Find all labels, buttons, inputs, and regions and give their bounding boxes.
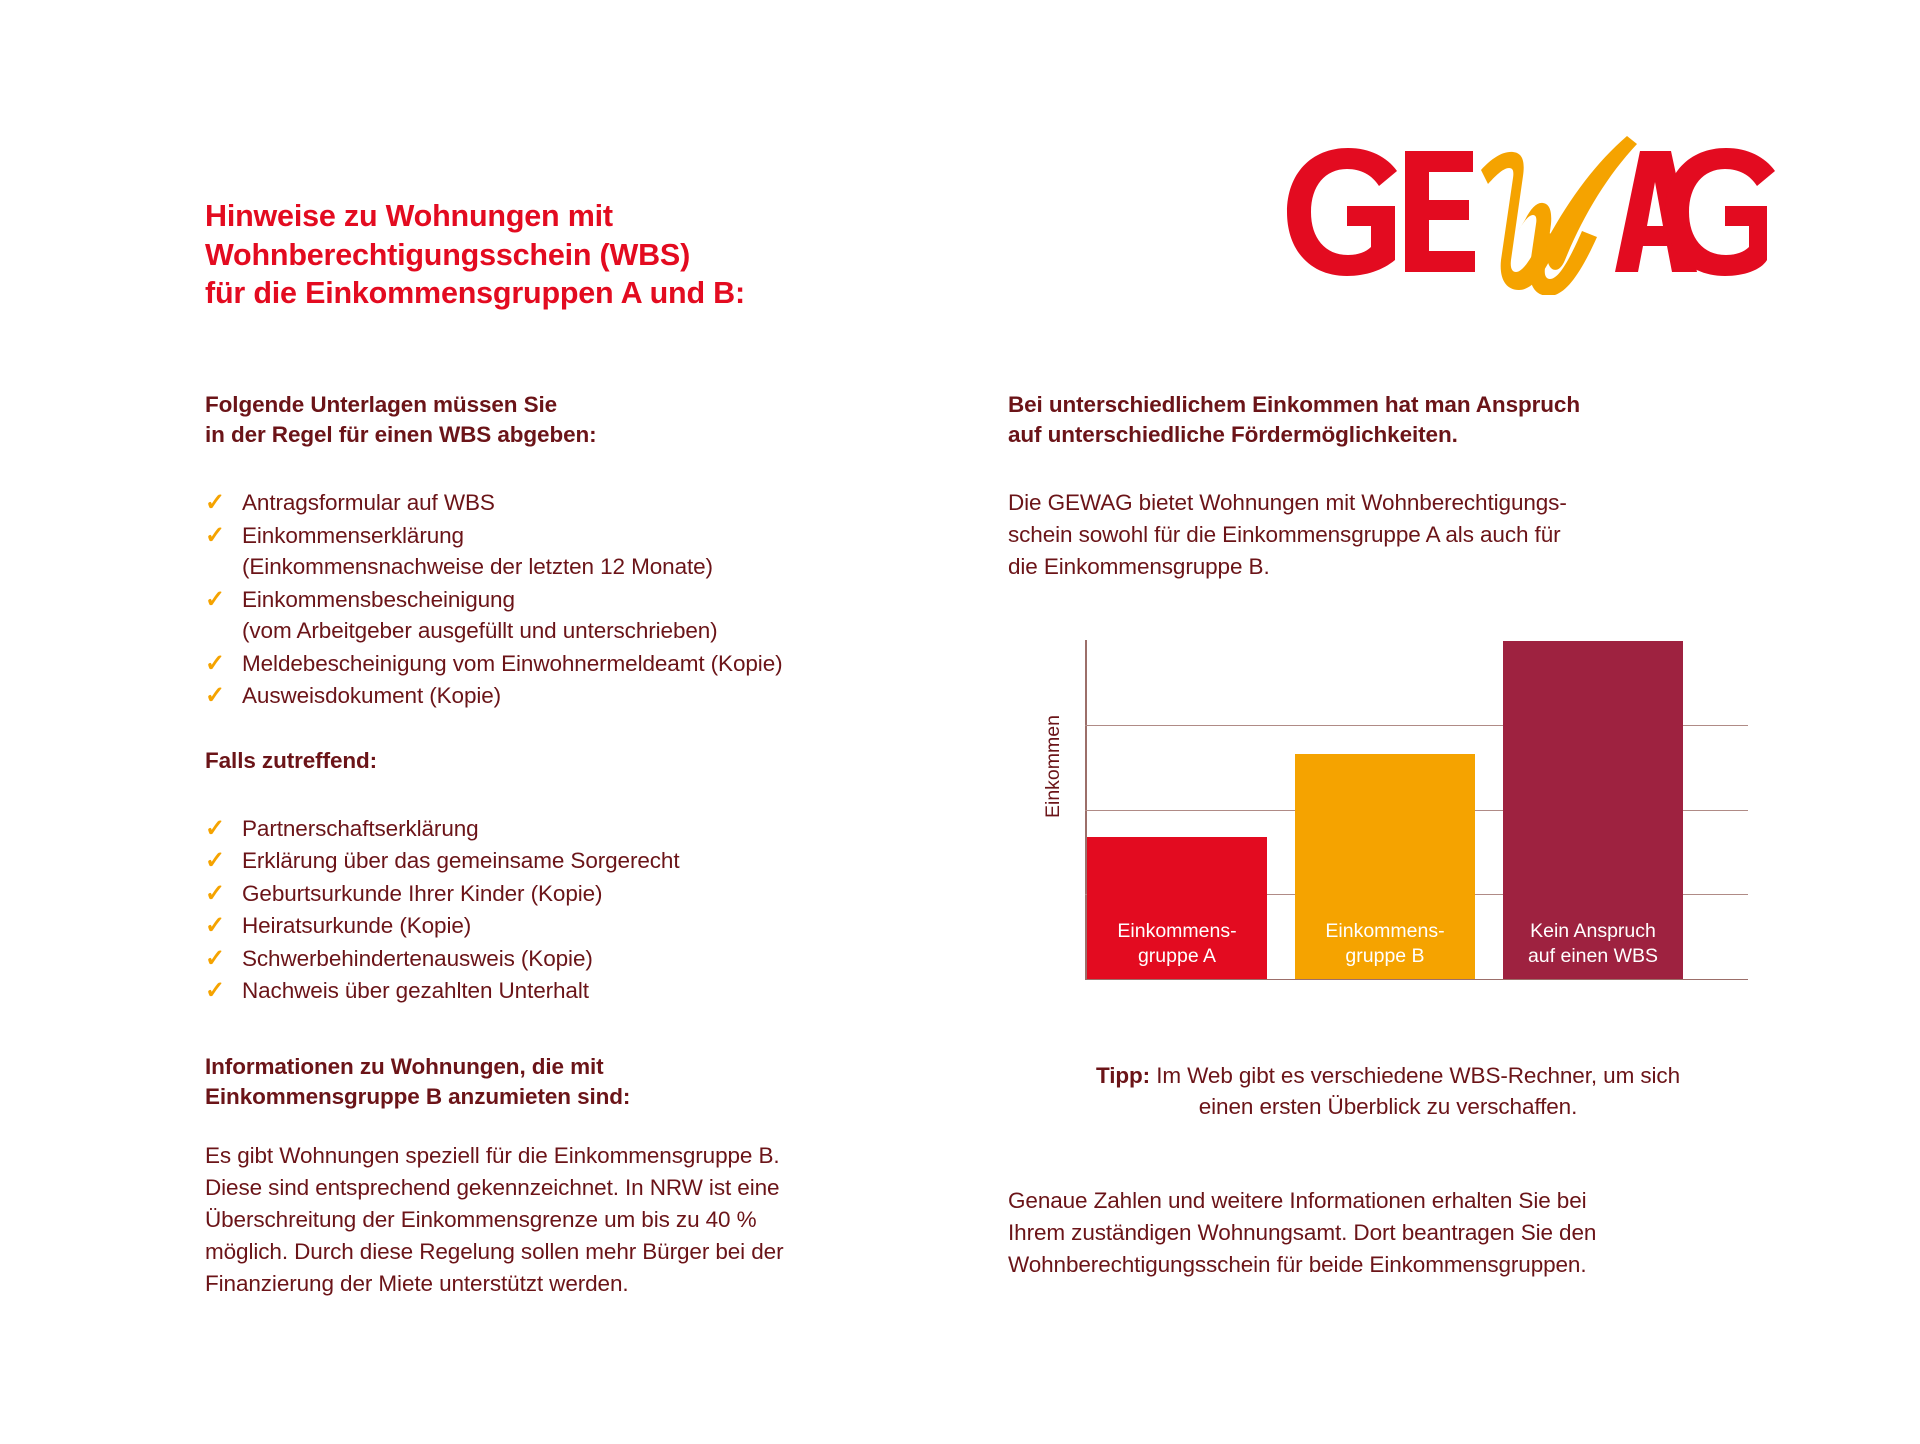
list-item-line-1: Antragsformular auf WBS (242, 487, 945, 519)
check-icon: ✓ (205, 648, 225, 680)
documents-heading: Folgende Unterlagen müssen Sie in der Re… (205, 390, 945, 450)
info-paragraph-line-3: Überschreitung der Einkommensgrenze um b… (205, 1204, 945, 1236)
tipp-line-2: einen ersten Überblick zu verschaffen. (1008, 1091, 1768, 1122)
check-icon: ✓ (205, 520, 225, 552)
page-title-line-2: Wohnberechtigungsschein (WBS) (205, 236, 905, 275)
page-title-line-3: für die Einkommensgruppen A und B: (205, 274, 905, 313)
list-item: ✓ Heiratsurkunde (Kopie) (205, 910, 945, 942)
list-item-line-1: Meldebescheinigung vom Einwohnermeldeamt… (242, 648, 945, 680)
right-column: Bei unterschiedlichem Einkommen hat man … (1008, 390, 1768, 583)
documents-checklist: ✓ Antragsformular auf WBS ✓ Einkommenser… (205, 487, 945, 712)
check-icon: ✓ (205, 680, 225, 712)
bar-einkommensgruppe-b: Einkommens- gruppe B (1295, 754, 1475, 979)
conditional-heading-text: Falls zutreffend: (205, 746, 945, 776)
list-item: ✓ Einkommensbescheinigung (vom Arbeitgeb… (205, 584, 945, 647)
list-item-line-1: Schwerbehindertenausweis (Kopie) (242, 943, 945, 975)
intro-paragraph-line-1: Die GEWAG bietet Wohnungen mit Wohnberec… (1008, 487, 1768, 519)
closing-line-1: Genaue Zahlen und weitere Informationen … (1008, 1185, 1768, 1217)
list-item: ✓ Ausweisdokument (Kopie) (205, 680, 945, 712)
conditional-heading: Falls zutreffend: (205, 746, 945, 776)
list-item-line-1: Geburtsurkunde Ihrer Kinder (Kopie) (242, 878, 945, 910)
bar-einkommensgruppe-a: Einkommens- gruppe A (1087, 837, 1267, 979)
intro-paragraph: Die GEWAG bietet Wohnungen mit Wohnberec… (1008, 487, 1768, 583)
intro-heading-line-1: Bei unterschiedlichem Einkommen hat man … (1008, 390, 1768, 420)
list-item-line-1: Einkommensbescheinigung (242, 584, 945, 616)
bar-kein-anspruch: Kein Anspruch auf einen WBS (1503, 641, 1683, 979)
gewag-logo (1285, 120, 1775, 295)
tipp-line-1: Tipp: Im Web gibt es verschiedene WBS-Re… (1008, 1060, 1768, 1091)
list-item-line-2: (Einkommensnachweise der letzten 12 Mona… (242, 551, 945, 583)
list-item-line-1: Partnerschaftserklärung (242, 813, 945, 845)
list-item-line-1: Ausweisdokument (Kopie) (242, 680, 945, 712)
info-heading-line-2: Einkommensgruppe B anzumieten sind: (205, 1082, 945, 1112)
list-item-line-1: Heiratsurkunde (Kopie) (242, 910, 945, 942)
tipp-text-1: Im Web gibt es verschiedene WBS-Rechner,… (1150, 1063, 1680, 1088)
page-title-line-1: Hinweise zu Wohnungen mit (205, 197, 905, 236)
list-item-line-1: Erklärung über das gemeinsame Sorgerecht (242, 845, 945, 877)
list-item: ✓ Schwerbehindertenausweis (Kopie) (205, 943, 945, 975)
chart-bars: Einkommens- gruppe A Einkommens- gruppe … (1087, 641, 1748, 979)
closing-line-3: Wohnberechtigungsschein für beide Einkom… (1008, 1249, 1768, 1281)
check-icon: ✓ (205, 878, 225, 910)
check-icon: ✓ (205, 910, 225, 942)
list-item: ✓ Nachweis über gezahlten Unterhalt (205, 975, 945, 1007)
list-item-line-2: (vom Arbeitgeber ausgefüllt und untersch… (242, 615, 945, 647)
check-icon: ✓ (205, 975, 225, 1007)
closing-line-2: Ihrem zuständigen Wohnungsamt. Dort bean… (1008, 1217, 1768, 1249)
bar-label: Kein Anspruch auf einen WBS (1503, 919, 1683, 969)
check-icon: ✓ (205, 813, 225, 845)
info-paragraph-line-5: Finanzierung der Miete unterstützt werde… (205, 1268, 945, 1300)
list-item-line-1: Nachweis über gezahlten Unterhalt (242, 975, 945, 1007)
income-chart: Einkommen Einkommens- gruppe A Einkommen… (1008, 640, 1768, 1100)
chart-plot-area: Einkommen Einkommens- gruppe A Einkommen… (1048, 640, 1748, 980)
closing-paragraph: Genaue Zahlen und weitere Informationen … (1008, 1185, 1768, 1281)
info-heading: Informationen zu Wohnungen, die mit Eink… (205, 1052, 945, 1112)
bar-label-line-2: auf einen WBS (1503, 944, 1683, 969)
intro-paragraph-line-2: schein sowohl für die Einkommensgruppe A… (1008, 519, 1768, 551)
list-item-line-1: Einkommenserklärung (242, 520, 945, 552)
chart-y-axis-label: Einkommen (1042, 715, 1065, 818)
info-paragraph-line-2: Diese sind entsprechend gekennzeichnet. … (205, 1172, 945, 1204)
bar-label-line-1: Einkommens- (1295, 919, 1475, 944)
info-paragraph: Es gibt Wohnungen speziell für die Einko… (205, 1140, 945, 1300)
check-icon: ✓ (205, 943, 225, 975)
info-heading-line-1: Informationen zu Wohnungen, die mit (205, 1052, 945, 1082)
logo-letter-g (1287, 148, 1397, 276)
list-item: ✓ Geburtsurkunde Ihrer Kinder (Kopie) (205, 878, 945, 910)
bar-label-line-2: gruppe A (1087, 944, 1267, 969)
logo-letter-g2 (1665, 148, 1775, 276)
check-icon: ✓ (205, 584, 225, 616)
chart-x-axis (1085, 979, 1748, 981)
poster-page: Hinweise zu Wohnungen mit Wohnberechtigu… (0, 0, 1920, 1444)
list-item: ✓ Einkommenserklärung (Einkommensnachwei… (205, 520, 945, 583)
gewag-logo-icon (1285, 120, 1775, 295)
bar-label: Einkommens- gruppe A (1087, 919, 1267, 969)
left-column: Folgende Unterlagen müssen Sie in der Re… (205, 390, 945, 1300)
info-paragraph-line-1: Es gibt Wohnungen speziell für die Einko… (205, 1140, 945, 1172)
bar-label-line-1: Kein Anspruch (1503, 919, 1683, 944)
list-item: ✓ Meldebescheinigung vom Einwohnermeldea… (205, 648, 945, 680)
tipp-label: Tipp: (1096, 1063, 1150, 1088)
check-icon: ✓ (205, 487, 225, 519)
info-paragraph-line-4: möglich. Durch diese Regelung sollen meh… (205, 1236, 945, 1268)
documents-heading-line-1: Folgende Unterlagen müssen Sie (205, 390, 945, 420)
intro-paragraph-line-3: die Einkommensgruppe B. (1008, 551, 1768, 583)
list-item: ✓ Partnerschaftserklärung (205, 813, 945, 845)
tipp-note: Tipp: Im Web gibt es verschiedene WBS-Re… (1008, 1060, 1768, 1122)
page-title: Hinweise zu Wohnungen mit Wohnberechtigu… (205, 197, 905, 313)
bar-label: Einkommens- gruppe B (1295, 919, 1475, 969)
logo-letter-e (1405, 151, 1475, 272)
intro-heading: Bei unterschiedlichem Einkommen hat man … (1008, 390, 1768, 450)
documents-heading-line-2: in der Regel für einen WBS abgeben: (205, 420, 945, 450)
bar-label-line-2: gruppe B (1295, 944, 1475, 969)
conditional-checklist: ✓ Partnerschaftserklärung ✓ Erklärung üb… (205, 813, 945, 1007)
list-item: ✓ Antragsformular auf WBS (205, 487, 945, 519)
intro-heading-line-2: auf unterschiedliche Fördermöglichkeiten… (1008, 420, 1768, 450)
bar-label-line-1: Einkommens- (1087, 919, 1267, 944)
check-icon: ✓ (205, 845, 225, 877)
list-item: ✓ Erklärung über das gemeinsame Sorgerec… (205, 845, 945, 877)
